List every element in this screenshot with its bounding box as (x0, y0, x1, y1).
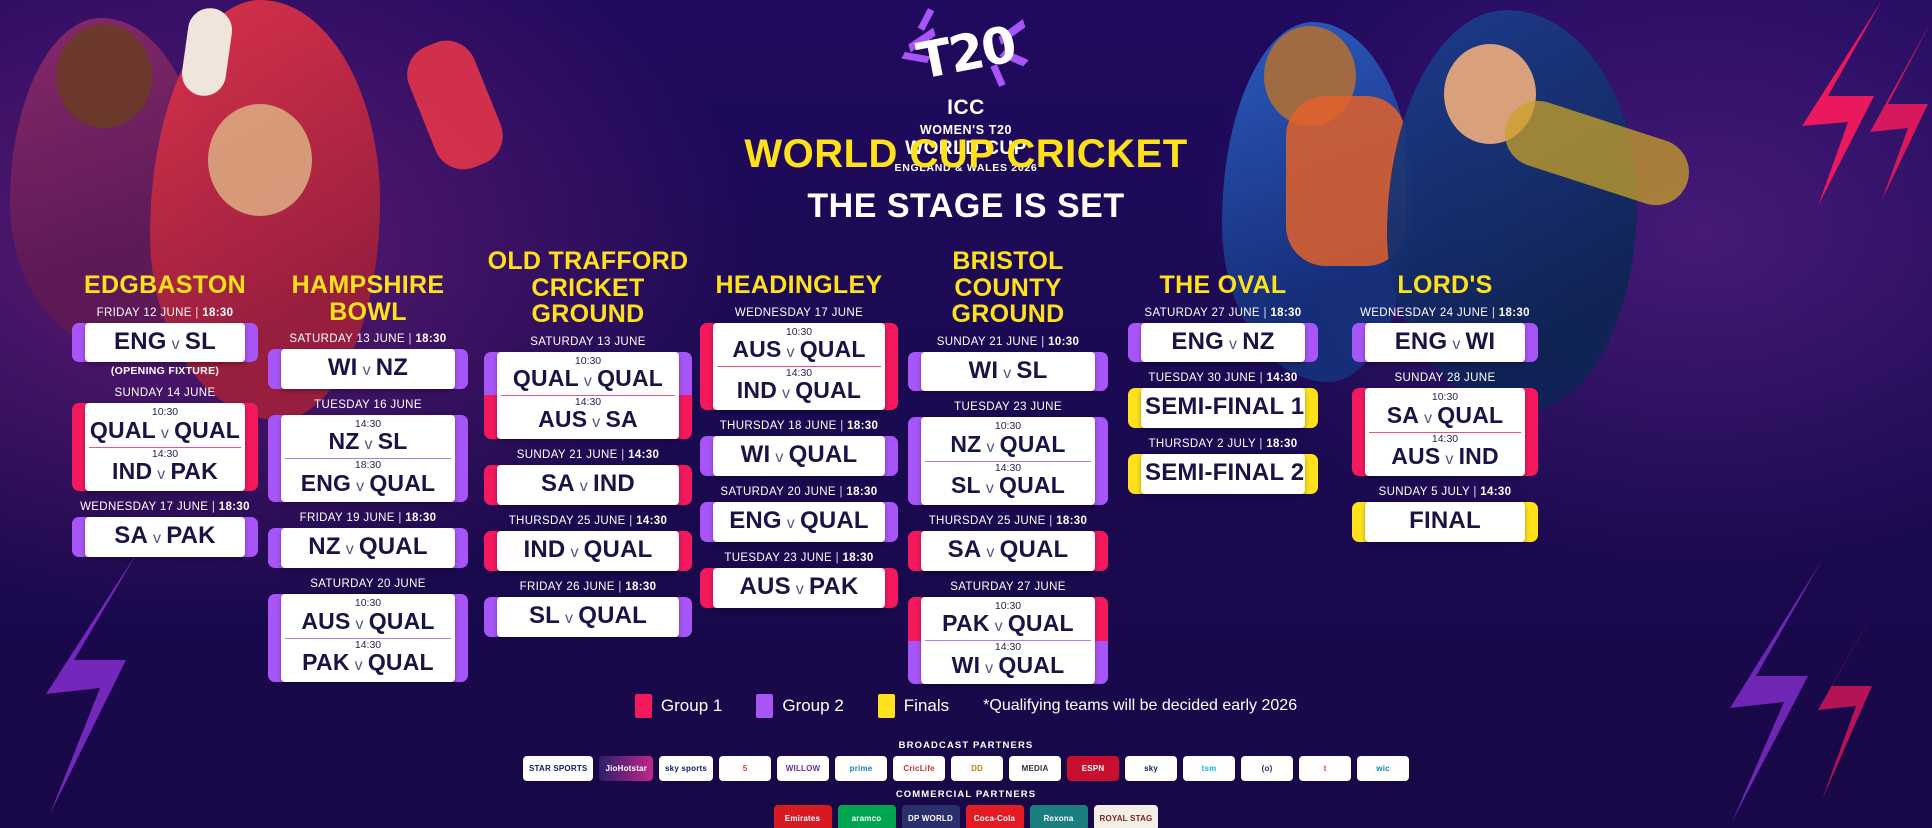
home-team: ENG (1171, 328, 1224, 355)
fixture-date: SUNDAY 5 JULY | 14:30 (1352, 486, 1538, 498)
match-card[interactable]: WIvQUAL (700, 436, 898, 476)
fixture-date: FRIDAY 19 JUNE | 18:30 (268, 512, 468, 524)
away-team: QUAL (1437, 402, 1503, 428)
match-teams: PAKvQUAL (925, 611, 1091, 637)
match-row[interactable]: 18:30ENGvQUAL (285, 458, 451, 499)
match-row[interactable]: SAvPAK (89, 520, 241, 554)
fixture-block[interactable]: SATURDAY 20 JUNE10:30AUSvQUAL14:30PAKvQU… (268, 578, 468, 682)
match-row[interactable]: 10:30AUSvQUAL (717, 326, 881, 366)
away-team: QUAL (800, 336, 866, 362)
match-teams: QUALvQUAL (89, 418, 241, 444)
venue-column: HAMPSHIRE BOWLSATURDAY 13 JUNE | 18:30WI… (268, 272, 468, 692)
home-team: AUS (732, 336, 781, 362)
away-team: QUAL (1000, 536, 1069, 563)
match-card-body: 10:30QUALvQUAL14:30INDvPAK (85, 403, 245, 491)
away-team: IND (593, 470, 635, 497)
home-team: QUAL (90, 417, 156, 443)
match-card-body: 10:30PAKvQUAL14:30WIvQUAL (921, 597, 1095, 685)
match-card[interactable]: INDvQUAL (484, 531, 692, 571)
match-card[interactable]: 10:30AUSvQUAL14:30INDvQUAL (700, 323, 898, 411)
match-card[interactable]: 10:30SAvQUAL14:30AUSvIND (1352, 388, 1538, 476)
match-teams: ENGvSL (89, 327, 241, 357)
match-row[interactable]: ENGvNZ (1145, 326, 1301, 360)
partner-logo[interactable]: t (1299, 756, 1351, 781)
partner-logo[interactable]: sky (1125, 756, 1177, 781)
fixture-date: SATURDAY 20 JUNE (268, 578, 468, 590)
fixture-date: SATURDAY 13 JUNE | 18:30 (268, 333, 468, 345)
fixture-date: SUNDAY 21 JUNE | 14:30 (484, 449, 692, 461)
fixture-block[interactable]: SATURDAY 20 JUNE | 18:30ENGvQUAL (700, 486, 898, 542)
match-row[interactable]: WIvSL (925, 355, 1091, 389)
home-team: SA (948, 536, 982, 563)
match-card[interactable]: AUSvPAK (700, 568, 898, 608)
versus-glyph: v (358, 362, 376, 379)
match-row[interactable]: SEMI-FINAL 2 (1145, 457, 1301, 491)
versus-glyph: v (560, 610, 578, 627)
fixture-block[interactable]: FRIDAY 12 JUNE | 18:30ENGvSL(OPENING FIX… (72, 307, 258, 378)
broadcast-partners-row: STAR SPORTSJioHotstarsky sports5WILLOWpr… (0, 756, 1932, 781)
fixture-date: THURSDAY 25 JUNE | 18:30 (908, 515, 1108, 527)
match-teams: ENGvNZ (1145, 327, 1301, 357)
fixture-block[interactable]: SUNDAY 21 JUNE | 10:30WIvSL (908, 336, 1108, 392)
fixture-block[interactable]: TUESDAY 23 JUNE | 18:30AUSvPAK (700, 552, 898, 608)
home-team: NZ (308, 533, 340, 560)
match-teams: NZvQUAL (925, 432, 1091, 458)
away-team: QUAL (1008, 610, 1074, 636)
away-team: QUAL (998, 652, 1064, 678)
match-row[interactable]: SAvIND (501, 468, 675, 502)
match-row[interactable]: 14:30PAKvQUAL (285, 638, 451, 679)
home-team: ENG (729, 507, 782, 534)
home-team: IND (112, 458, 152, 484)
partner-logo[interactable]: DP WORLD (902, 805, 960, 828)
away-team: QUAL (789, 441, 858, 468)
match-row[interactable]: SLvQUAL (501, 600, 675, 634)
partner-logo[interactable]: WILLOW (777, 756, 829, 781)
fixture-block[interactable]: WEDNESDAY 17 JUNE10:30AUSvQUAL14:30INDvQ… (700, 307, 898, 411)
match-card-body: SAvPAK (85, 517, 245, 557)
versus-glyph: v (990, 618, 1008, 635)
venue-title: OLD TRAFFORD CRICKET GROUND (484, 248, 692, 328)
away-team: PAK (170, 458, 217, 484)
fixture-date: FRIDAY 26 JUNE | 18:30 (484, 581, 692, 593)
match-teams: PAKvQUAL (285, 650, 451, 676)
fixture-block[interactable]: SATURDAY 27 JUNE | 18:30ENGvNZ (1128, 307, 1318, 363)
legend-item: Group 2 (756, 694, 843, 718)
versus-glyph: v (1447, 336, 1465, 353)
match-card[interactable]: ENGvQUAL (700, 502, 898, 542)
match-row[interactable]: NZvQUAL (285, 531, 451, 565)
versus-glyph: v (167, 336, 185, 353)
fixture-block[interactable]: WEDNESDAY 17 JUNE | 18:30SAvPAK (72, 501, 258, 557)
match-card-body: SAvQUAL (921, 531, 1095, 571)
match-teams: SAvQUAL (1369, 403, 1521, 429)
fixture-block[interactable]: SUNDAY 28 JUNE10:30SAvQUAL14:30AUSvIND (1352, 372, 1538, 476)
match-row[interactable]: 10:30SAvQUAL (1369, 391, 1521, 431)
match-card-body: SEMI-FINAL 2 (1141, 454, 1305, 494)
fixture-block[interactable]: WEDNESDAY 24 JUNE | 18:30ENGvWI (1352, 307, 1538, 363)
match-card-body: 10:30SAvQUAL14:30AUSvIND (1365, 388, 1525, 476)
match-card[interactable]: ENGvWI (1352, 323, 1538, 363)
versus-glyph: v (998, 365, 1016, 382)
match-row[interactable]: 14:30INDvQUAL (717, 366, 881, 407)
fixture-date: SATURDAY 27 JUNE | 18:30 (1128, 307, 1318, 319)
away-team: QUAL (359, 533, 428, 560)
fixture-block[interactable]: TUESDAY 30 JUNE | 14:30SEMI-FINAL 1 (1128, 372, 1318, 428)
match-teams: AUSvSA (501, 407, 675, 433)
partner-logo[interactable]: wic (1357, 756, 1409, 781)
away-team: QUAL (369, 608, 435, 634)
partner-logo[interactable]: tsm (1183, 756, 1235, 781)
away-team: QUAL (999, 472, 1065, 498)
fixture-block[interactable]: FRIDAY 26 JUNE | 18:30SLvQUAL (484, 581, 692, 637)
legend-swatch (878, 694, 895, 718)
home-team: WI (968, 357, 998, 384)
commercial-partners-row: EmiratesaramcoDP WORLDCoca-ColaRexonaROY… (0, 805, 1932, 828)
fixture-block[interactable]: FRIDAY 19 JUNE | 18:30NZvQUAL (268, 512, 468, 568)
away-team: SL (185, 328, 216, 355)
home-team: PAK (302, 649, 349, 675)
away-team: IND (1459, 443, 1499, 469)
partner-logo[interactable]: aramco (838, 805, 896, 828)
match-card-body: SEMI-FINAL 1 (1141, 388, 1305, 428)
venue-column: THE OVALSATURDAY 27 JUNE | 18:30ENGvNZTU… (1128, 272, 1318, 504)
match-row[interactable]: 10:30QUALvQUAL (501, 355, 675, 395)
broadcast-partners-title: BROADCAST PARTNERS (0, 740, 1932, 751)
fixture-block[interactable]: THURSDAY 25 JUNE | 14:30INDvQUAL (484, 515, 692, 571)
away-team: QUAL (369, 470, 435, 496)
match-teams: ENGvQUAL (285, 471, 451, 497)
fixture-note: (OPENING FIXTURE) (72, 365, 258, 377)
match-teams: SAvIND (501, 469, 675, 499)
fixture-date: SATURDAY 13 JUNE (484, 336, 692, 348)
match-card-body: ENGvNZ (1141, 323, 1305, 363)
versus-glyph: v (587, 414, 605, 431)
fixture-date: WEDNESDAY 24 JUNE | 18:30 (1352, 307, 1538, 319)
match-row[interactable]: INDvQUAL (501, 534, 675, 568)
home-team: NZ (950, 431, 981, 457)
away-team: SL (1016, 357, 1047, 384)
fixture-block[interactable]: TUESDAY 16 JUNE14:30NZvSL18:30ENGvQUAL (268, 399, 468, 503)
away-team: PAK (809, 573, 859, 600)
away-team: NZ (376, 354, 408, 381)
match-teams: SAvPAK (89, 521, 241, 551)
match-card-body: 14:30NZvSL18:30ENGvQUAL (281, 415, 455, 503)
away-team: QUAL (597, 365, 663, 391)
away-team: QUAL (1000, 431, 1066, 457)
match-teams: WIvQUAL (717, 440, 881, 470)
legend-label: Group 2 (782, 696, 843, 716)
home-team: AUS (1391, 443, 1440, 469)
partner-logo[interactable]: DD (951, 756, 1003, 781)
fixture-date: FRIDAY 12 JUNE | 18:30 (72, 307, 258, 319)
match-card[interactable]: SEMI-FINAL 2 (1128, 454, 1318, 494)
match-card[interactable]: ENGvNZ (1128, 323, 1318, 363)
partner-logo[interactable]: CricLife (893, 756, 945, 781)
venue-column: EDGBASTONFRIDAY 12 JUNE | 18:30ENGvSL(OP… (72, 272, 258, 567)
match-row[interactable]: 14:30AUSvIND (1369, 432, 1521, 473)
match-teams: WIvQUAL (925, 653, 1091, 679)
home-team: IND (737, 377, 777, 403)
home-team: SL (951, 472, 981, 498)
versus-glyph: v (782, 344, 800, 361)
venue-title: EDGBASTON (72, 272, 258, 299)
match-card-body: AUSvPAK (713, 568, 885, 608)
match-card[interactable]: 10:30NZvQUAL14:30SLvQUAL (908, 417, 1108, 505)
versus-glyph: v (579, 373, 597, 390)
home-team: SA (114, 522, 148, 549)
away-team: QUAL (174, 417, 240, 443)
legend-label: Group 1 (661, 696, 722, 716)
venue-title: LORD'S (1352, 272, 1538, 299)
partner-logo[interactable]: JioHotstar (599, 756, 653, 781)
home-team: AUS (538, 406, 587, 432)
match-card-body: ENGvQUAL (713, 502, 885, 542)
home-team: SA (1387, 402, 1419, 428)
legend-swatch (756, 694, 773, 718)
match-teams: FINAL (1369, 506, 1521, 536)
match-card[interactable]: SEMI-FINAL 1 (1128, 388, 1318, 428)
fixture-date: THURSDAY 25 JUNE | 14:30 (484, 515, 692, 527)
match-card[interactable]: 10:30PAKvQUAL14:30WIvQUAL (908, 597, 1108, 685)
versus-glyph: v (350, 657, 368, 674)
match-row[interactable]: 14:30AUSvSA (501, 395, 675, 436)
match-teams: INDvQUAL (717, 378, 881, 404)
headline-subtitle: THE STAGE IS SET (0, 187, 1932, 226)
fixture-block[interactable]: SATURDAY 13 JUNE | 18:30WIvNZ (268, 333, 468, 389)
venue-title: HEADINGLEY (700, 272, 898, 299)
match-card-body: WIvSL (921, 352, 1095, 392)
match-card[interactable]: 14:30NZvSL18:30ENGvQUAL (268, 415, 468, 503)
match-teams: AUSvQUAL (717, 337, 881, 363)
fixture-block[interactable]: SUNDAY 14 JUNE10:30QUALvQUAL14:30INDvPAK (72, 387, 258, 491)
partner-logo[interactable]: sky sports (659, 756, 713, 781)
versus-glyph: v (791, 581, 809, 598)
partner-logo[interactable]: Coca-Cola (966, 805, 1024, 828)
home-team: WI (952, 652, 981, 678)
versus-glyph: v (148, 530, 166, 547)
partner-logo[interactable]: MEDIA (1009, 756, 1061, 781)
legend-item: Finals (878, 694, 949, 718)
match-card[interactable]: SLvQUAL (484, 597, 692, 637)
match-card[interactable]: SAvQUAL (908, 531, 1108, 571)
match-card[interactable]: FINAL (1352, 502, 1538, 542)
fixture-date: TUESDAY 23 JUNE | 18:30 (700, 552, 898, 564)
away-team: WI (1466, 328, 1496, 355)
versus-glyph: v (1419, 410, 1437, 427)
partner-logo[interactable]: (o) (1241, 756, 1293, 781)
match-card-body: 10:30QUALvQUAL14:30AUSvSA (497, 352, 679, 440)
away-team: QUAL (795, 377, 861, 403)
fixture-date: TUESDAY 16 JUNE (268, 399, 468, 411)
fixture-block[interactable]: SUNDAY 21 JUNE | 14:30SAvIND (484, 449, 692, 505)
home-team: WI (328, 354, 358, 381)
venue-column: BRISTOL COUNTY GROUNDSUNDAY 21 JUNE | 10… (908, 248, 1108, 694)
match-row[interactable]: ENGvWI (1369, 326, 1521, 360)
match-teams: SLvQUAL (501, 601, 675, 631)
away-team: SA (606, 406, 638, 432)
home-team: PAK (942, 610, 989, 636)
fixture-date: WEDNESDAY 17 JUNE (700, 307, 898, 319)
match-card-body: 10:30AUSvQUAL14:30PAKvQUAL (281, 594, 455, 682)
match-row[interactable]: SEMI-FINAL 1 (1145, 391, 1301, 425)
match-teams: WIvNZ (285, 353, 451, 383)
home-team: ENG (1395, 328, 1448, 355)
fixture-date: THURSDAY 2 JULY | 18:30 (1128, 438, 1318, 450)
match-teams: SEMI-FINAL 2 (1145, 458, 1301, 488)
versus-glyph: v (575, 478, 593, 495)
match-teams: WIvSL (925, 356, 1091, 386)
match-card-body: WIvQUAL (713, 436, 885, 476)
match-card[interactable]: WIvSL (908, 352, 1108, 392)
match-teams: INDvPAK (89, 459, 241, 485)
versus-glyph: v (351, 478, 369, 495)
match-card-body: 10:30NZvQUAL14:30SLvQUAL (921, 417, 1095, 505)
versus-glyph: v (351, 616, 369, 633)
match-row[interactable]: 10:30PAKvQUAL (925, 600, 1091, 640)
home-team: ENG (301, 470, 351, 496)
fixture-date: TUESDAY 23 JUNE (908, 401, 1108, 413)
match-row[interactable]: 14:30WIvQUAL (925, 640, 1091, 681)
home-team: IND (524, 536, 566, 563)
versus-glyph: v (341, 541, 359, 558)
fixture-block[interactable]: THURSDAY 18 JUNE | 18:30WIvQUAL (700, 420, 898, 476)
match-card-body: SLvQUAL (497, 597, 679, 637)
home-team: WI (741, 441, 771, 468)
away-team: QUAL (578, 602, 647, 629)
venue-column: HEADINGLEYWEDNESDAY 17 JUNE10:30AUSvQUAL… (700, 272, 898, 618)
match-card-body: SAvIND (497, 465, 679, 505)
fixture-block[interactable]: TUESDAY 23 JUNE10:30NZvQUAL14:30SLvQUAL (908, 401, 1108, 505)
match-teams: AUSvQUAL (285, 609, 451, 635)
legend-swatch (635, 694, 652, 718)
match-card-body: ENGvSL (85, 323, 245, 363)
match-teams: ENGvWI (1369, 327, 1521, 357)
fixture-block[interactable]: THURSDAY 25 JUNE | 18:30SAvQUAL (908, 515, 1108, 571)
match-teams: QUALvQUAL (501, 366, 675, 392)
versus-glyph: v (152, 466, 170, 483)
venue-title: HAMPSHIRE BOWL (268, 272, 468, 325)
qualifier-note: *Qualifying teams will be decided early … (983, 697, 1297, 715)
match-card[interactable]: NZvQUAL (268, 528, 468, 568)
fixture-date: WEDNESDAY 17 JUNE | 18:30 (72, 501, 258, 513)
partner-logo[interactable]: ROYAL STAG (1094, 805, 1159, 828)
match-card[interactable]: SAvIND (484, 465, 692, 505)
match-row[interactable]: 10:30NZvQUAL (925, 420, 1091, 460)
match-card-body: INDvQUAL (497, 531, 679, 571)
match-card[interactable]: 10:30QUALvQUAL14:30AUSvSA (484, 352, 692, 440)
match-card[interactable]: WIvNZ (268, 349, 468, 389)
fixture-block[interactable]: SATURDAY 27 JUNE10:30PAKvQUAL14:30WIvQUA… (908, 581, 1108, 685)
partner-logo[interactable]: 5 (719, 756, 771, 781)
match-teams: SEMI-FINAL 1 (1145, 392, 1301, 422)
home-team: NZ (328, 428, 359, 454)
versus-glyph: v (782, 515, 800, 532)
home-team: SA (541, 470, 575, 497)
away-team: PAK (166, 522, 216, 549)
match-row[interactable]: 14:30INDvPAK (89, 447, 241, 488)
match-row[interactable]: ENGvQUAL (717, 505, 881, 539)
versus-glyph: v (981, 439, 999, 456)
partner-logo[interactable]: Rexona (1030, 805, 1088, 828)
headline-title: WORLD CUP CRICKET (0, 132, 1932, 177)
partner-logo[interactable]: prime (835, 756, 887, 781)
match-row[interactable]: FINAL (1369, 505, 1521, 539)
match-teams: INDvQUAL (501, 535, 675, 565)
home-team: ENG (114, 328, 167, 355)
match-teams: ENGvQUAL (717, 506, 881, 536)
versus-glyph: v (360, 436, 378, 453)
partner-logo[interactable]: ESPN (1067, 756, 1119, 781)
legend-item: Group 1 (635, 694, 722, 718)
match-row[interactable]: 10:30AUSvQUAL (285, 597, 451, 637)
home-team: AUS (740, 573, 791, 600)
match-card-body: FINAL (1365, 502, 1525, 542)
match-teams: SAvQUAL (925, 535, 1091, 565)
match-row[interactable]: 10:30QUALvQUAL (89, 406, 241, 446)
match-row[interactable]: WIvQUAL (717, 439, 881, 473)
versus-glyph: v (1224, 336, 1242, 353)
match-row[interactable]: 14:30SLvQUAL (925, 461, 1091, 502)
fixture-date: SUNDAY 14 JUNE (72, 387, 258, 399)
away-team: QUAL (584, 536, 653, 563)
venue-column: OLD TRAFFORD CRICKET GROUNDSATURDAY 13 J… (484, 248, 692, 647)
match-teams: NZvSL (285, 429, 451, 455)
partner-logo[interactable]: STAR SPORTS (523, 756, 594, 781)
fixture-block[interactable]: SATURDAY 13 JUNE10:30QUALvQUAL14:30AUSvS… (484, 336, 692, 440)
fixture-date: THURSDAY 18 JUNE | 18:30 (700, 420, 898, 432)
partner-logo[interactable]: Emirates (774, 805, 832, 828)
versus-glyph: v (770, 449, 788, 466)
versus-glyph: v (1440, 451, 1458, 468)
versus-glyph: v (981, 544, 999, 561)
match-card[interactable]: 10:30QUALvQUAL14:30INDvPAK (72, 403, 258, 491)
away-team: NZ (1242, 328, 1274, 355)
match-row[interactable]: 14:30NZvSL (285, 418, 451, 458)
match-card-body: 10:30AUSvQUAL14:30INDvQUAL (713, 323, 885, 411)
versus-glyph: v (981, 480, 999, 497)
versus-glyph: v (980, 660, 998, 677)
fixture-date: TUESDAY 30 JUNE | 14:30 (1128, 372, 1318, 384)
versus-glyph: v (156, 425, 174, 442)
match-teams: SLvQUAL (925, 473, 1091, 499)
fixture-block[interactable]: THURSDAY 2 JULY | 18:30SEMI-FINAL 2 (1128, 438, 1318, 494)
fixture-date: SATURDAY 20 JUNE | 18:30 (700, 486, 898, 498)
match-teams: AUSvPAK (717, 572, 881, 602)
match-row[interactable]: SAvQUAL (925, 534, 1091, 568)
versus-glyph: v (777, 385, 795, 402)
fixture-date: SUNDAY 28 JUNE (1352, 372, 1538, 384)
fixture-date: SATURDAY 27 JUNE (908, 581, 1108, 593)
match-card[interactable]: SAvPAK (72, 517, 258, 557)
venue-title: BRISTOL COUNTY GROUND (908, 248, 1108, 328)
match-row[interactable]: ENGvSL (89, 326, 241, 360)
match-card-body: ENGvWI (1365, 323, 1525, 363)
match-row[interactable]: WIvNZ (285, 352, 451, 386)
away-team: QUAL (368, 649, 434, 675)
home-team: AUS (301, 608, 350, 634)
fixture-block[interactable]: SUNDAY 5 JULY | 14:30FINAL (1352, 486, 1538, 542)
match-teams: NZvQUAL (285, 532, 451, 562)
match-card[interactable]: 10:30AUSvQUAL14:30PAKvQUAL (268, 594, 468, 682)
match-teams: AUSvIND (1369, 444, 1521, 470)
home-team: SL (529, 602, 560, 629)
match-card[interactable]: ENGvSL (72, 323, 258, 363)
venue-title: THE OVAL (1128, 272, 1318, 299)
home-team: QUAL (513, 365, 579, 391)
match-row[interactable]: AUSvPAK (717, 571, 881, 605)
t20-logo-mark: T20 (901, 10, 1031, 102)
